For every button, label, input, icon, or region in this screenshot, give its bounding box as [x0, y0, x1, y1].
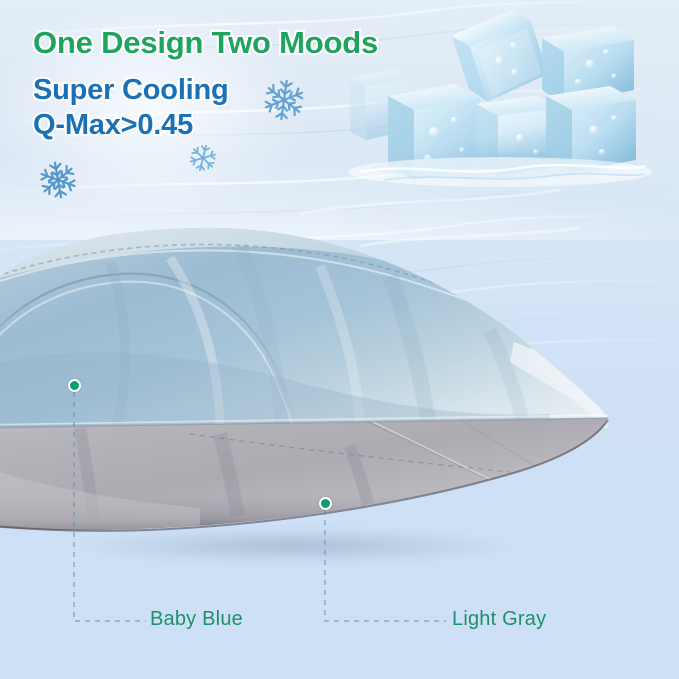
callout-label-light-gray: Light Gray — [452, 608, 546, 631]
product-poster: One Design Two Moods Super Cooling Q-Max… — [0, 0, 679, 679]
pillow-drop-shadow — [0, 522, 590, 570]
two-tone-cooling-pillow — [0, 222, 630, 572]
callout-marker-light-gray[interactable] — [319, 497, 332, 510]
pillow-illustration — [0, 222, 630, 572]
page-title: One Design Two Moods — [33, 25, 378, 61]
callout-marker-baby-blue[interactable] — [68, 379, 81, 392]
subtitle-line-1: Super Cooling — [33, 74, 229, 107]
subtitle-line-2: Q-Max>0.45 — [33, 109, 193, 142]
callout-label-baby-blue: Baby Blue — [150, 608, 243, 631]
